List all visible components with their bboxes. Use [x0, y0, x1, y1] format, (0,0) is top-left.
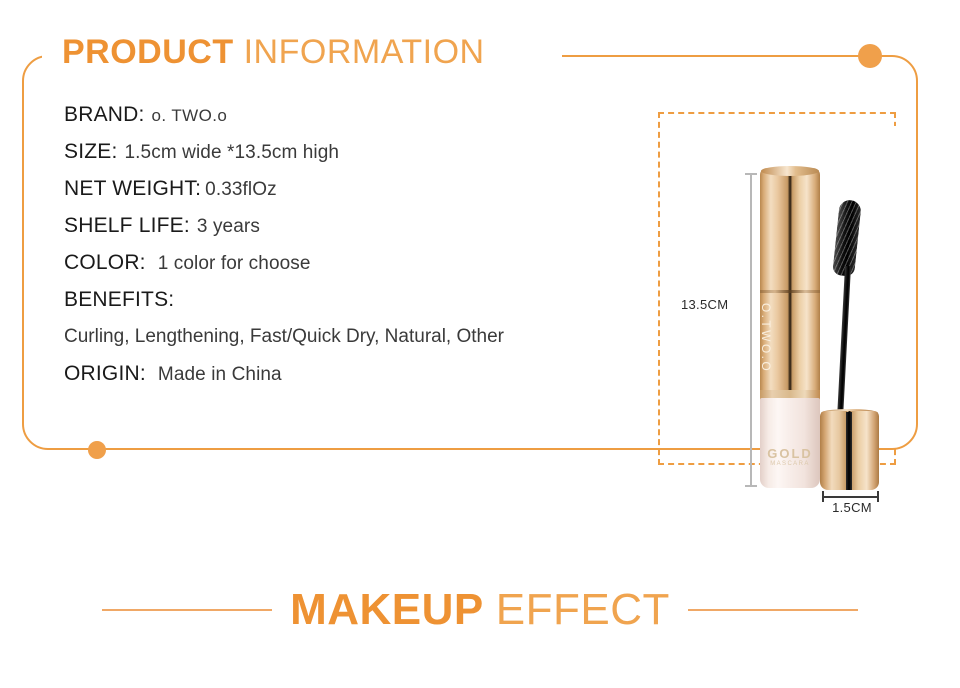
spec-label-shelf-life: SHELF LIFE: — [64, 214, 190, 237]
spec-row-shelf-life: SHELF LIFE:3 years — [64, 207, 664, 244]
spec-value-brand: o. TWO.o — [152, 106, 228, 125]
dimension-width-line — [822, 496, 879, 498]
mascara-wand-image — [820, 200, 890, 490]
makeup-effect-heading: MAKEUPEFFECT — [0, 580, 960, 640]
tube-bottom-label: GOLD — [760, 446, 820, 461]
spec-value-size: 1.5cm wide *13.5cm high — [125, 142, 340, 163]
wand-stem-inside-cap — [846, 412, 852, 490]
spec-label-brand: BRAND: — [64, 103, 145, 126]
spec-value-net-weight: 0.33flOz — [205, 179, 277, 200]
spec-row-color: COLOR:1 color for choose — [64, 244, 664, 281]
frame-accent-dot-top — [858, 44, 882, 68]
mascara-tube-image: O.TWO.O GOLD MASCARA — [760, 168, 820, 488]
spec-label-benefits: BENEFITS: — [64, 288, 174, 311]
tube-lower-body — [760, 398, 820, 488]
spec-row-net-weight: NET WEIGHT:0.33flOz — [64, 170, 664, 207]
tube-bottom-sublabel: MASCARA — [760, 461, 820, 467]
page-title: PRODUCTINFORMATION — [62, 35, 485, 69]
dimension-height-tick-top — [745, 173, 757, 175]
makeup-title-strong: MAKEUP — [290, 585, 484, 634]
spec-row-benefits-values: Curling, Lengthening, Fast/Quick Dry, Na… — [64, 318, 664, 355]
spec-label-net-weight: NET WEIGHT: — [64, 177, 201, 200]
page-title-light: INFORMATION — [244, 33, 485, 71]
heading-rule-right — [688, 609, 858, 611]
makeup-effect-title: MAKEUPEFFECT — [290, 588, 670, 632]
specification-list: BRAND:o. TWO.o SIZE:1.5cm wide *13.5cm h… — [64, 96, 664, 392]
dimension-height-line — [750, 173, 752, 487]
spec-label-size: SIZE: — [64, 140, 118, 163]
tube-cap-top — [761, 166, 819, 176]
spec-row-benefits: BENEFITS: — [64, 281, 664, 318]
spec-row-brand: BRAND:o. TWO.o — [64, 96, 664, 133]
heading-rule-left — [102, 609, 272, 611]
dimension-height-label: 13.5CM — [681, 297, 728, 312]
spec-value-origin: Made in China — [158, 364, 282, 385]
spec-label-color: COLOR: — [64, 251, 146, 274]
tube-brand-text: O.TWO.O — [756, 283, 776, 393]
spec-label-origin: ORIGIN: — [64, 362, 146, 385]
spec-value-shelf-life: 3 years — [197, 216, 260, 237]
frame-accent-dot-bottom — [88, 441, 106, 459]
makeup-title-light: EFFECT — [496, 585, 670, 634]
dimension-width-label: 1.5CM — [823, 500, 881, 515]
page-title-strong: PRODUCT — [62, 33, 234, 71]
spec-value-color: 1 color for choose — [158, 253, 311, 274]
dimension-height-tick-bottom — [745, 485, 757, 487]
wand-stem — [837, 266, 851, 418]
spec-row-size: SIZE:1.5cm wide *13.5cm high — [64, 133, 664, 170]
spec-row-origin: ORIGIN:Made in China — [64, 355, 664, 392]
